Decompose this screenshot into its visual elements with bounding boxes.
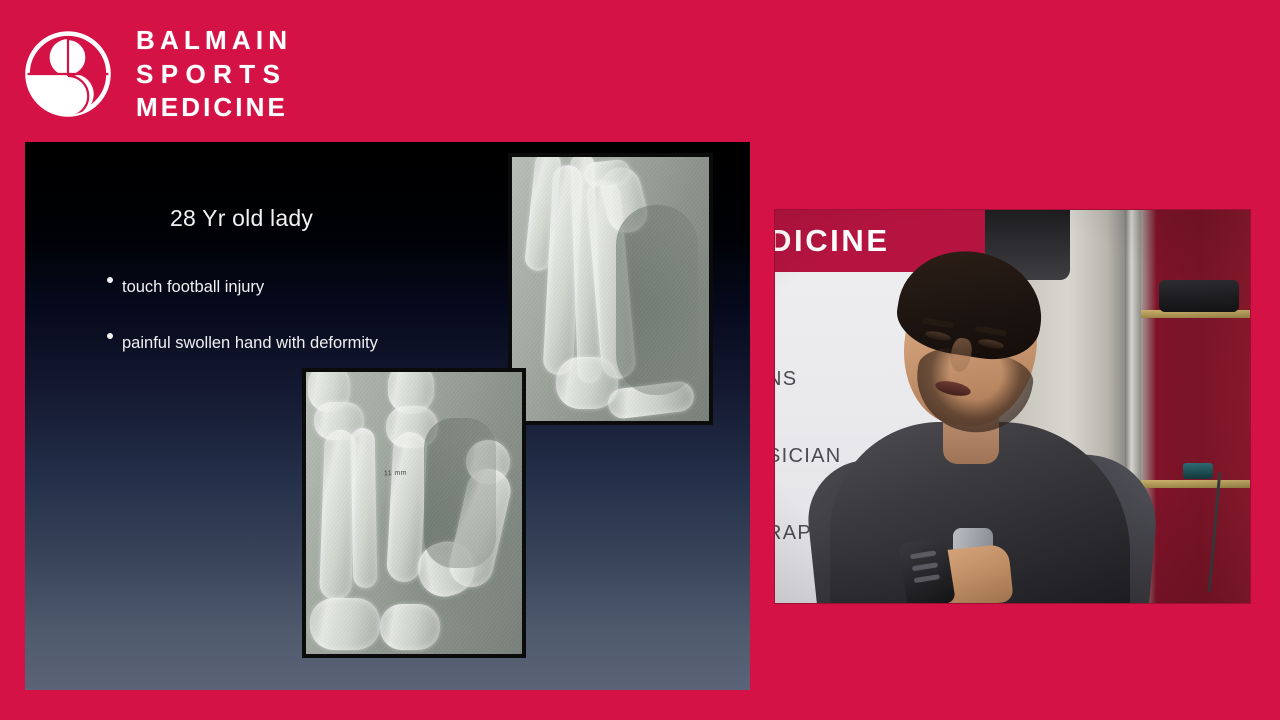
xray-grain-overlay <box>512 157 709 421</box>
xray-grain-overlay <box>306 372 522 654</box>
brand-line-medicine: MEDICINE <box>136 94 292 121</box>
brand-line-sports: SPORTS <box>136 61 292 88</box>
brand-header: BALMAIN SPORTS MEDICINE <box>22 18 442 130</box>
brand-line-balmain: BALMAIN <box>136 27 292 54</box>
slide-panel: 28 Yr old lady touch football injury pai… <box>25 142 750 690</box>
presentation-remote-clicker <box>898 537 956 603</box>
balmain-circle-s-logo-icon <box>22 28 114 120</box>
hand-xray-oblique-image <box>508 153 713 425</box>
slide-title: 28 Yr old lady <box>170 205 313 232</box>
bullet-text: painful swollen hand with deformity <box>122 331 378 356</box>
bullet-dot-icon <box>107 277 113 283</box>
presenter-video-feed[interactable]: DICINE NS SICIAN RAP <box>775 210 1250 603</box>
remote-button <box>910 550 936 559</box>
remote-button <box>912 562 938 571</box>
brand-wordmark: BALMAIN SPORTS MEDICINE <box>136 27 292 121</box>
presenter-figure <box>775 210 1250 603</box>
presentation-stage: BALMAIN SPORTS MEDICINE 28 Yr old lady t… <box>0 0 1280 720</box>
bullet-text: touch football injury <box>122 275 264 300</box>
list-item: painful swollen hand with deformity <box>107 331 387 356</box>
list-item: touch football injury <box>107 275 387 300</box>
bullet-dot-icon <box>107 333 113 339</box>
remote-button <box>914 574 940 583</box>
hand-xray-ap-image: 11 mm <box>302 368 526 658</box>
